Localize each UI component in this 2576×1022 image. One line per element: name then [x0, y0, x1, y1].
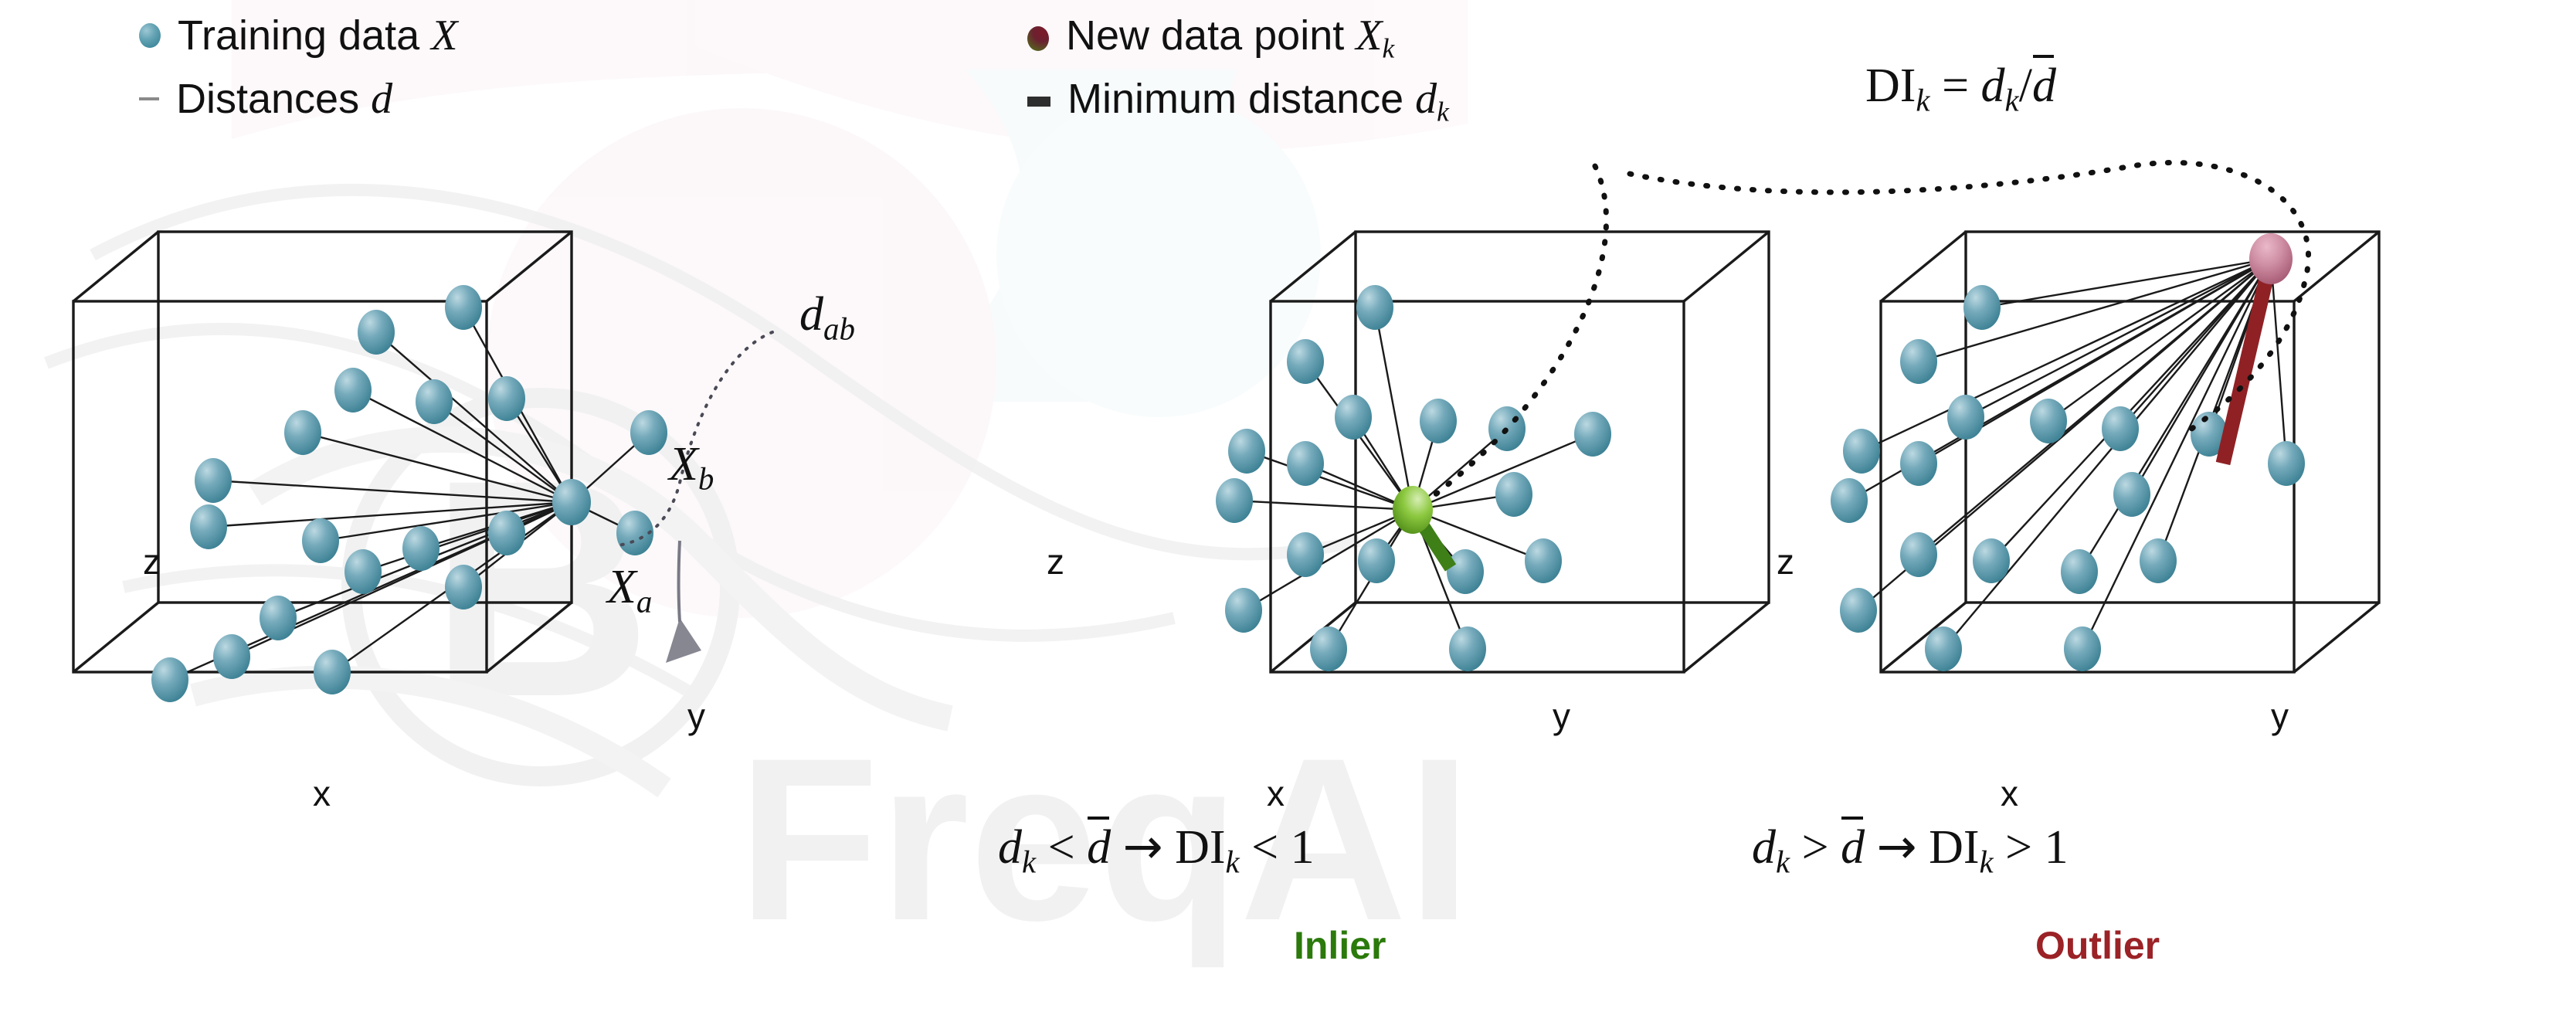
- legend-item-new-data-point: New data point Xk: [1027, 14, 1394, 63]
- panel-training-points: [151, 285, 667, 702]
- panel-inlier-cube: [1271, 232, 1769, 672]
- caption-word-inlier: Inlier: [1294, 923, 1386, 968]
- legend-label-distances: Distances d: [176, 77, 392, 121]
- label-xb: Xb: [669, 437, 714, 497]
- axis-label-z-panel3: z: [1777, 541, 1794, 582]
- figure-root: B FreqAI: [0, 0, 2576, 1022]
- legend-item-minimum-distance: Minimum distance dk: [1027, 77, 1449, 126]
- legend-item-training-data: Training data X: [139, 14, 457, 57]
- new-data-point-outlier: [2249, 233, 2293, 284]
- dab-arrow: [666, 618, 701, 663]
- caption-formula-inlier: dk < d → DIk < 1: [998, 823, 1315, 878]
- axis-label-z-panel1: z: [143, 541, 161, 582]
- panel-inlier-points: [1216, 285, 1611, 671]
- panel-outlier-cube: [1881, 232, 2379, 672]
- label-dab: dab: [799, 287, 855, 347]
- axis-label-y-panel2: y: [1553, 695, 1570, 737]
- caption-word-outlier: Outlier: [2035, 923, 2160, 968]
- dk-connector-inlier: [1425, 166, 1607, 502]
- dab-leader-tail: [679, 541, 680, 622]
- axis-label-y-panel1: y: [687, 695, 705, 737]
- axis-label-x-panel2: x: [1267, 772, 1285, 814]
- di-formula: DIk = dk/d: [1865, 62, 2056, 117]
- axis-label-x-panel1: x: [313, 772, 331, 814]
- caption-formula-outlier: dk > d → DIk > 1: [1752, 823, 2069, 878]
- axis-label-x-panel3: x: [2001, 772, 2018, 814]
- sphere-red-green-icon: [1027, 26, 1049, 51]
- sphere-teal-icon: [139, 23, 161, 48]
- dash-dark-icon: [1027, 97, 1050, 107]
- axis-label-y-panel3: y: [2271, 695, 2289, 737]
- hub-point-xa: [552, 479, 591, 525]
- label-xa: Xa: [607, 560, 652, 620]
- panel-training-cube: [73, 232, 572, 672]
- dash-grey-icon: [139, 97, 159, 100]
- legend-label-minimum-distance: Minimum distance dk: [1067, 77, 1449, 126]
- axis-label-z-panel2: z: [1047, 541, 1064, 582]
- legend-label-new-data-point: New data point Xk: [1066, 14, 1394, 63]
- new-data-point-inlier: [1393, 486, 1433, 534]
- legend-item-distances: Distances d: [139, 77, 392, 121]
- legend-label-training-data: Training data X: [178, 14, 457, 57]
